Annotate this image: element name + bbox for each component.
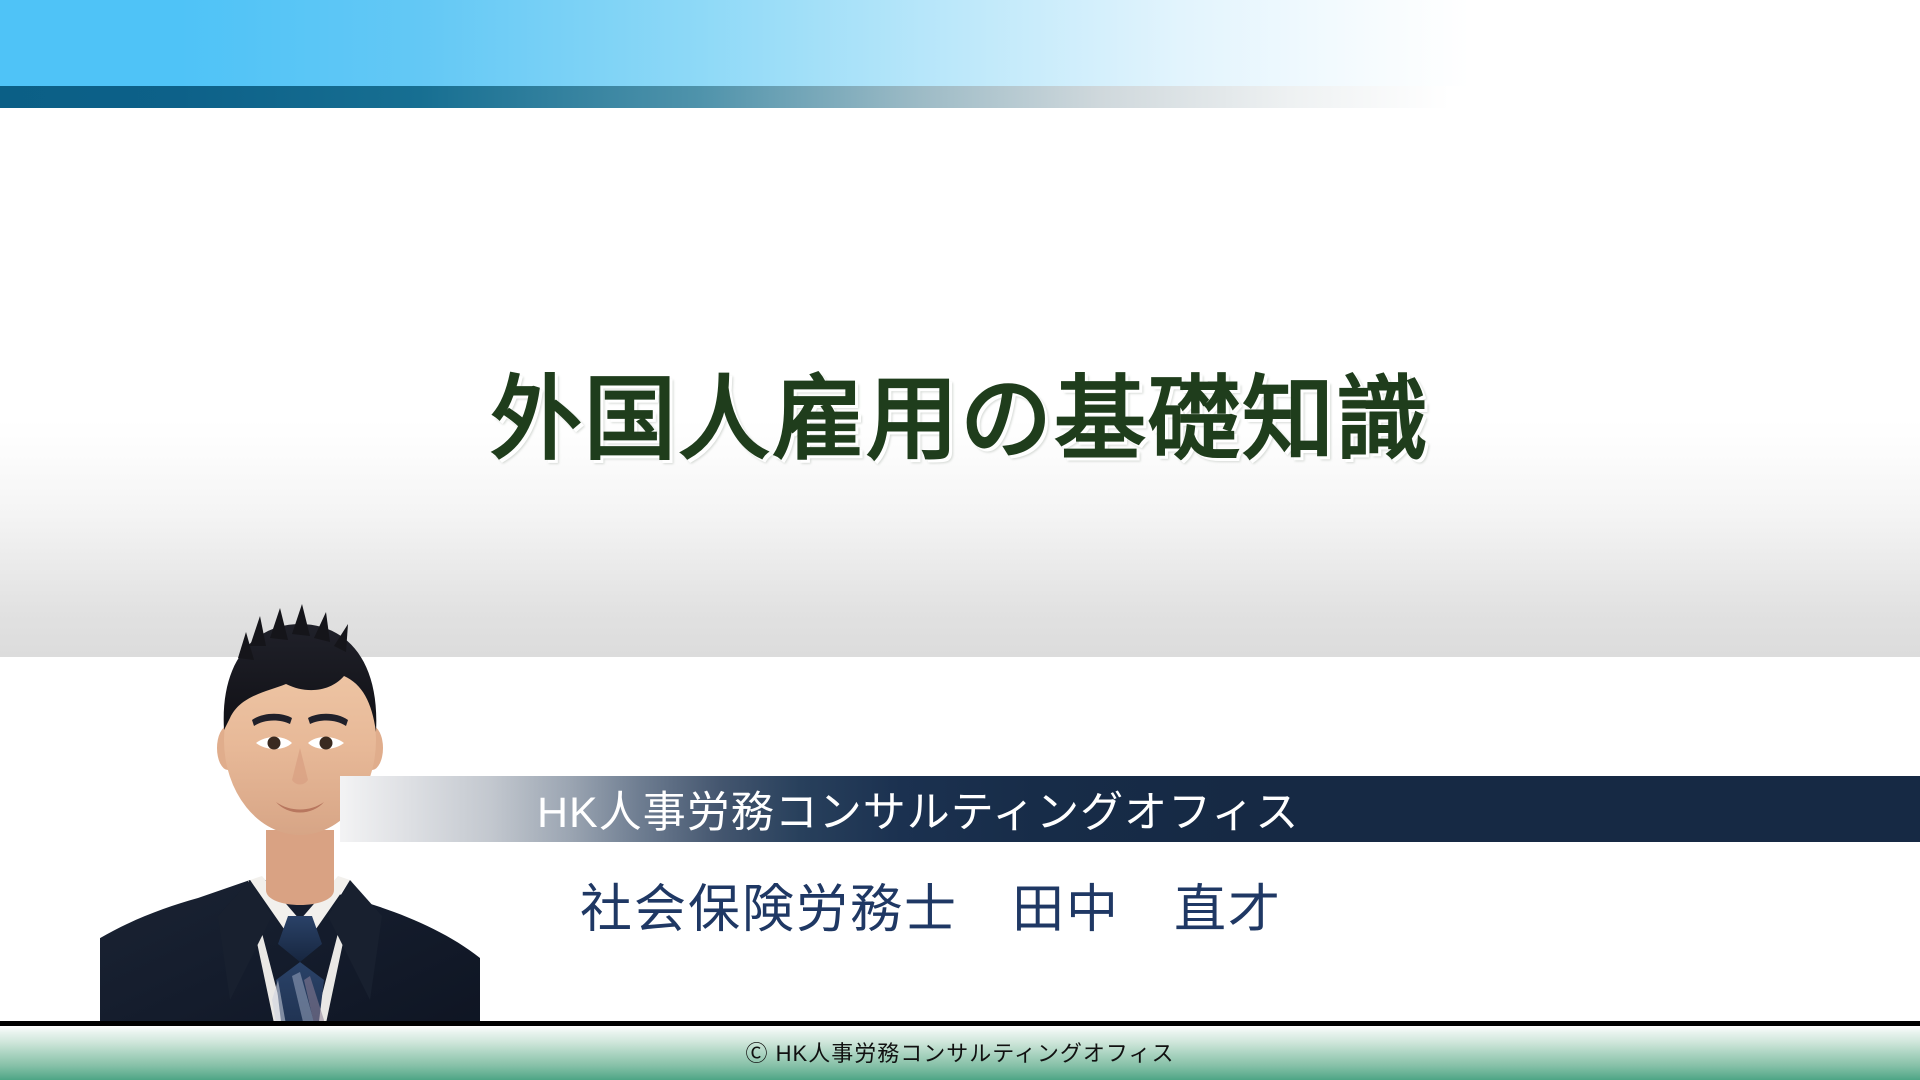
presenter-name: 社会保険労務士 田中 直才	[580, 867, 1282, 942]
presentation-slide: 外国人雇用の基礎知識	[0, 0, 1920, 1080]
neck	[266, 830, 334, 905]
left-pupil	[268, 737, 281, 750]
right-pupil	[320, 737, 333, 750]
footer-copyright: Ⓒ HK人事労務コンサルティングオフィス	[0, 1036, 1920, 1068]
page-title: 外国人雇用の基礎知識	[0, 372, 1920, 469]
organization-bar: HK人事労務コンサルティングオフィス	[340, 776, 1920, 842]
top-blue-banner	[0, 0, 1920, 86]
organization-name: HK人事労務コンサルティングオフィス	[537, 778, 1299, 840]
top-teal-banner	[0, 86, 1920, 108]
